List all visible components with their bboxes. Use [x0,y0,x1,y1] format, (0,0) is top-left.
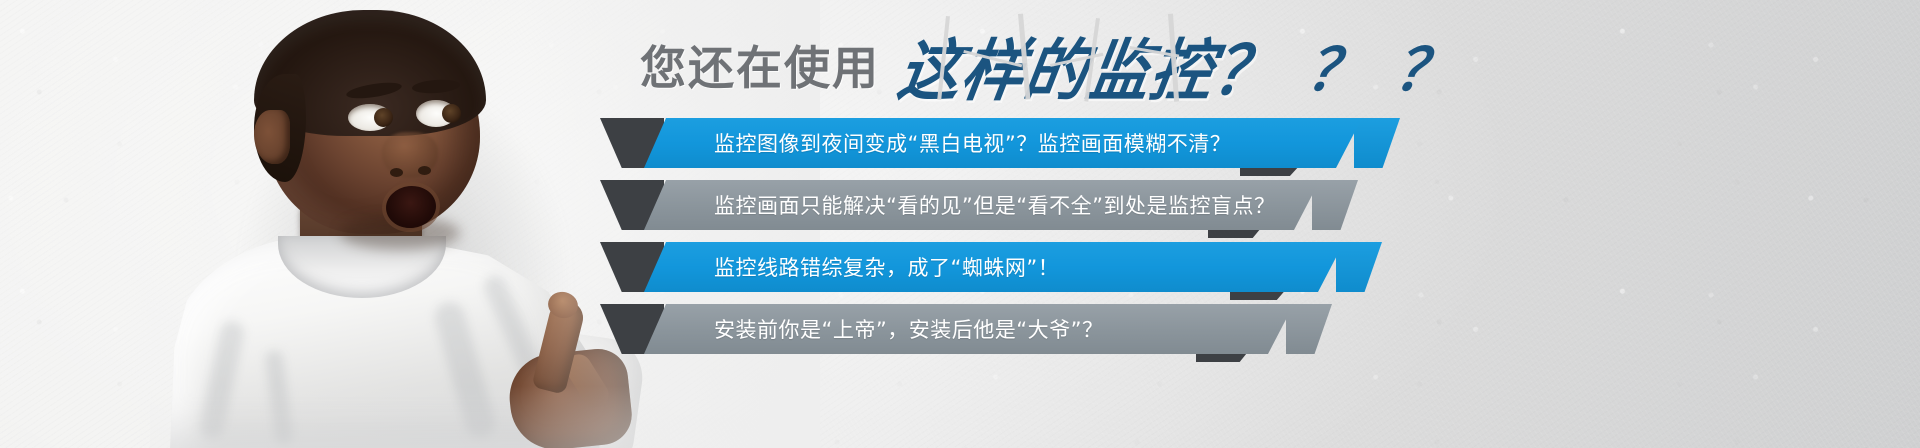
row-text: 监控图像到夜间变成“黑白电视”？监控画面模糊不清？ [714,128,1231,158]
row-body: 安装前你是“上帝”，安装后他是“大爷”？ [644,304,1294,354]
row-body: 监控线路错综复杂，成了“蜘蛛网”！ [644,242,1344,292]
headline-question-mark-2: ？ [1389,23,1460,107]
row-text: 监控线路错综复杂，成了“蜘蛛网”！ [714,252,1059,282]
row-arrow-head [1354,118,1400,168]
row-arrow-head [1336,242,1382,292]
row-text: 监控画面只能解决“看的见”但是“看不全”到处是监控盲点？ [714,190,1276,220]
banner-stage: 您还在使用 这样的监控？ ？ ？ 监控图像到夜间变成“黑白电视”？监控画面模糊不… [0,0,1920,448]
banner-row-list: 监控图像到夜间变成“黑白电视”？监控画面模糊不清？ 监控画面只能解决“看的见”但… [0,118,1920,358]
row-text: 安装前你是“上帝”，安装后他是“大爷”？ [714,314,1104,344]
row-arrow-head [1312,180,1358,230]
row-body: 监控图像到夜间变成“黑白电视”？监控画面模糊不清？ [644,118,1362,168]
headline: 您还在使用 这样的监控？ ？ ？ [640,28,1454,102]
headline-lead: 您还在使用 [640,32,880,98]
headline-emphasis-wrap: 这样的监控？ [900,20,1278,110]
photo-bottom-fade [150,386,670,448]
headline-question-mark-1: ？ [1301,23,1372,107]
headline-emphasis: 这样的监控？ [892,16,1285,113]
row-body: 监控画面只能解决“看的见”但是“看不全”到处是监控盲点？ [644,180,1320,230]
row-arrow-head [1286,304,1332,354]
